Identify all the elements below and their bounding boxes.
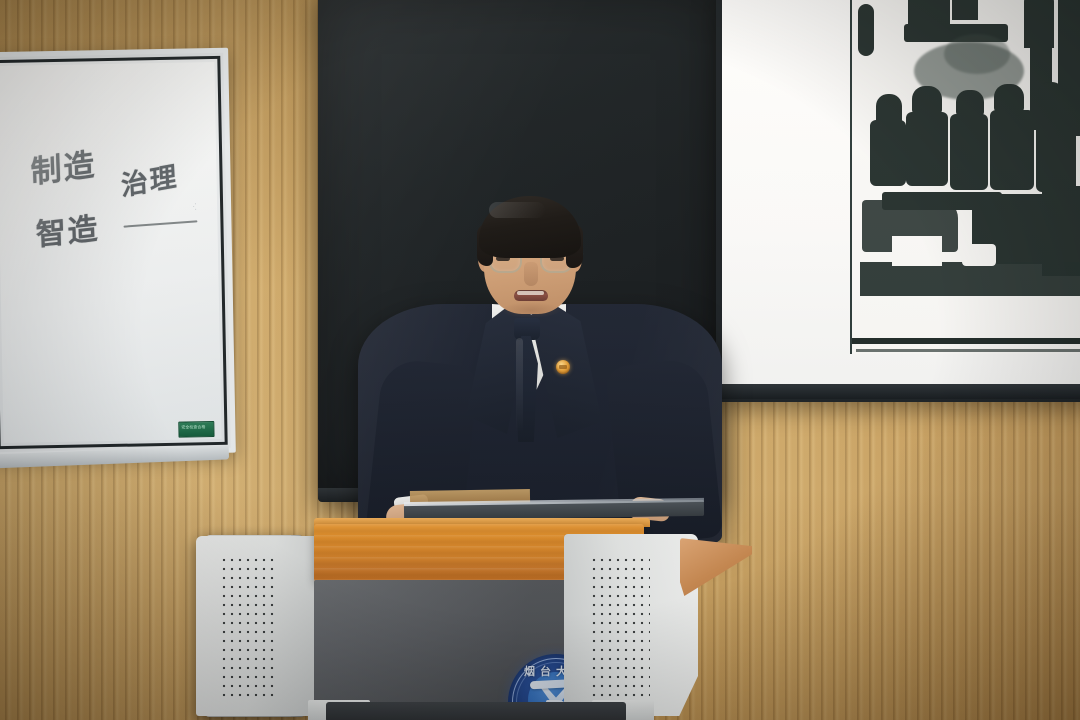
handwriting-smart-manufacturing: 智造 [35,203,100,254]
lapel-pin-icon [556,360,570,374]
projection-screen [722,0,1080,384]
chin-shadow [500,302,562,318]
projection-screen-bottom-bar [716,384,1080,399]
handwriting-governance: 治理 [120,154,179,203]
necktie-highlight [516,338,523,433]
teeth [517,291,544,295]
presenter [380,186,700,536]
whiteboard-inspection-label: 安全检查合格 [178,421,214,438]
lectern-base-center [326,702,626,720]
hair [479,196,581,258]
speaker-grille-right-icon [592,558,650,698]
lectern-side-panel-left [196,536,326,716]
whiteboard-faint-marks: ·.· [187,202,206,382]
slide-woodcut-illustration [850,0,1080,354]
handwriting-underline [123,220,197,227]
lecture-hall-scene: 制造 智造 治理 ·.· 安全检查合格 [0,0,1080,720]
lectern-wood-handle [680,538,752,596]
lectern-side-panel-right [564,534,698,716]
whiteboard-frame: 制造 智造 治理 ·.· 安全检查合格 [0,56,228,449]
handwriting-manufacturing: 制造 [30,139,97,192]
speaker-grille-left-icon [222,558,278,698]
woodcut-bottom-border-inner [856,349,1080,352]
whiteboard-surface: 制造 智造 治理 ·.· [0,62,222,443]
whiteboard: 制造 智造 治理 ·.· 安全检查合格 [0,48,236,458]
lectern: 烟台大学 1984 YANTAI UNIVERSITY [196,524,756,720]
woodcut-bottom-border [852,338,1080,344]
